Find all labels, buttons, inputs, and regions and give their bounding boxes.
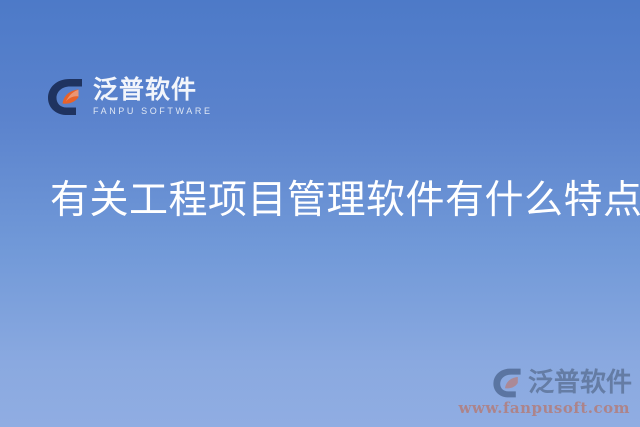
page-title: 有关工程项目管理软件有什么特点 (50, 178, 610, 224)
brand-logo: 泛普软件 FANPU SOFTWARE (45, 76, 213, 117)
brand-name-cn: 泛普软件 (93, 76, 213, 104)
fanpu-watermark-logo-icon (491, 367, 523, 399)
slide-canvas: 泛普软件 FANPU SOFTWARE 有关工程项目管理软件有什么特点 泛普软件… (0, 0, 640, 427)
watermark-url: www.fanpusoft.com (459, 399, 631, 417)
fanpu-logo-icon (45, 77, 85, 117)
watermark-name-cn: 泛普软件 (528, 368, 632, 398)
brand-name-en: FANPU SOFTWARE (93, 105, 213, 117)
watermark: 泛普软件 www.fanpusoft.com (459, 367, 633, 417)
watermark-logo-row: 泛普软件 (491, 367, 632, 399)
brand-wordmark: 泛普软件 FANPU SOFTWARE (93, 76, 213, 117)
